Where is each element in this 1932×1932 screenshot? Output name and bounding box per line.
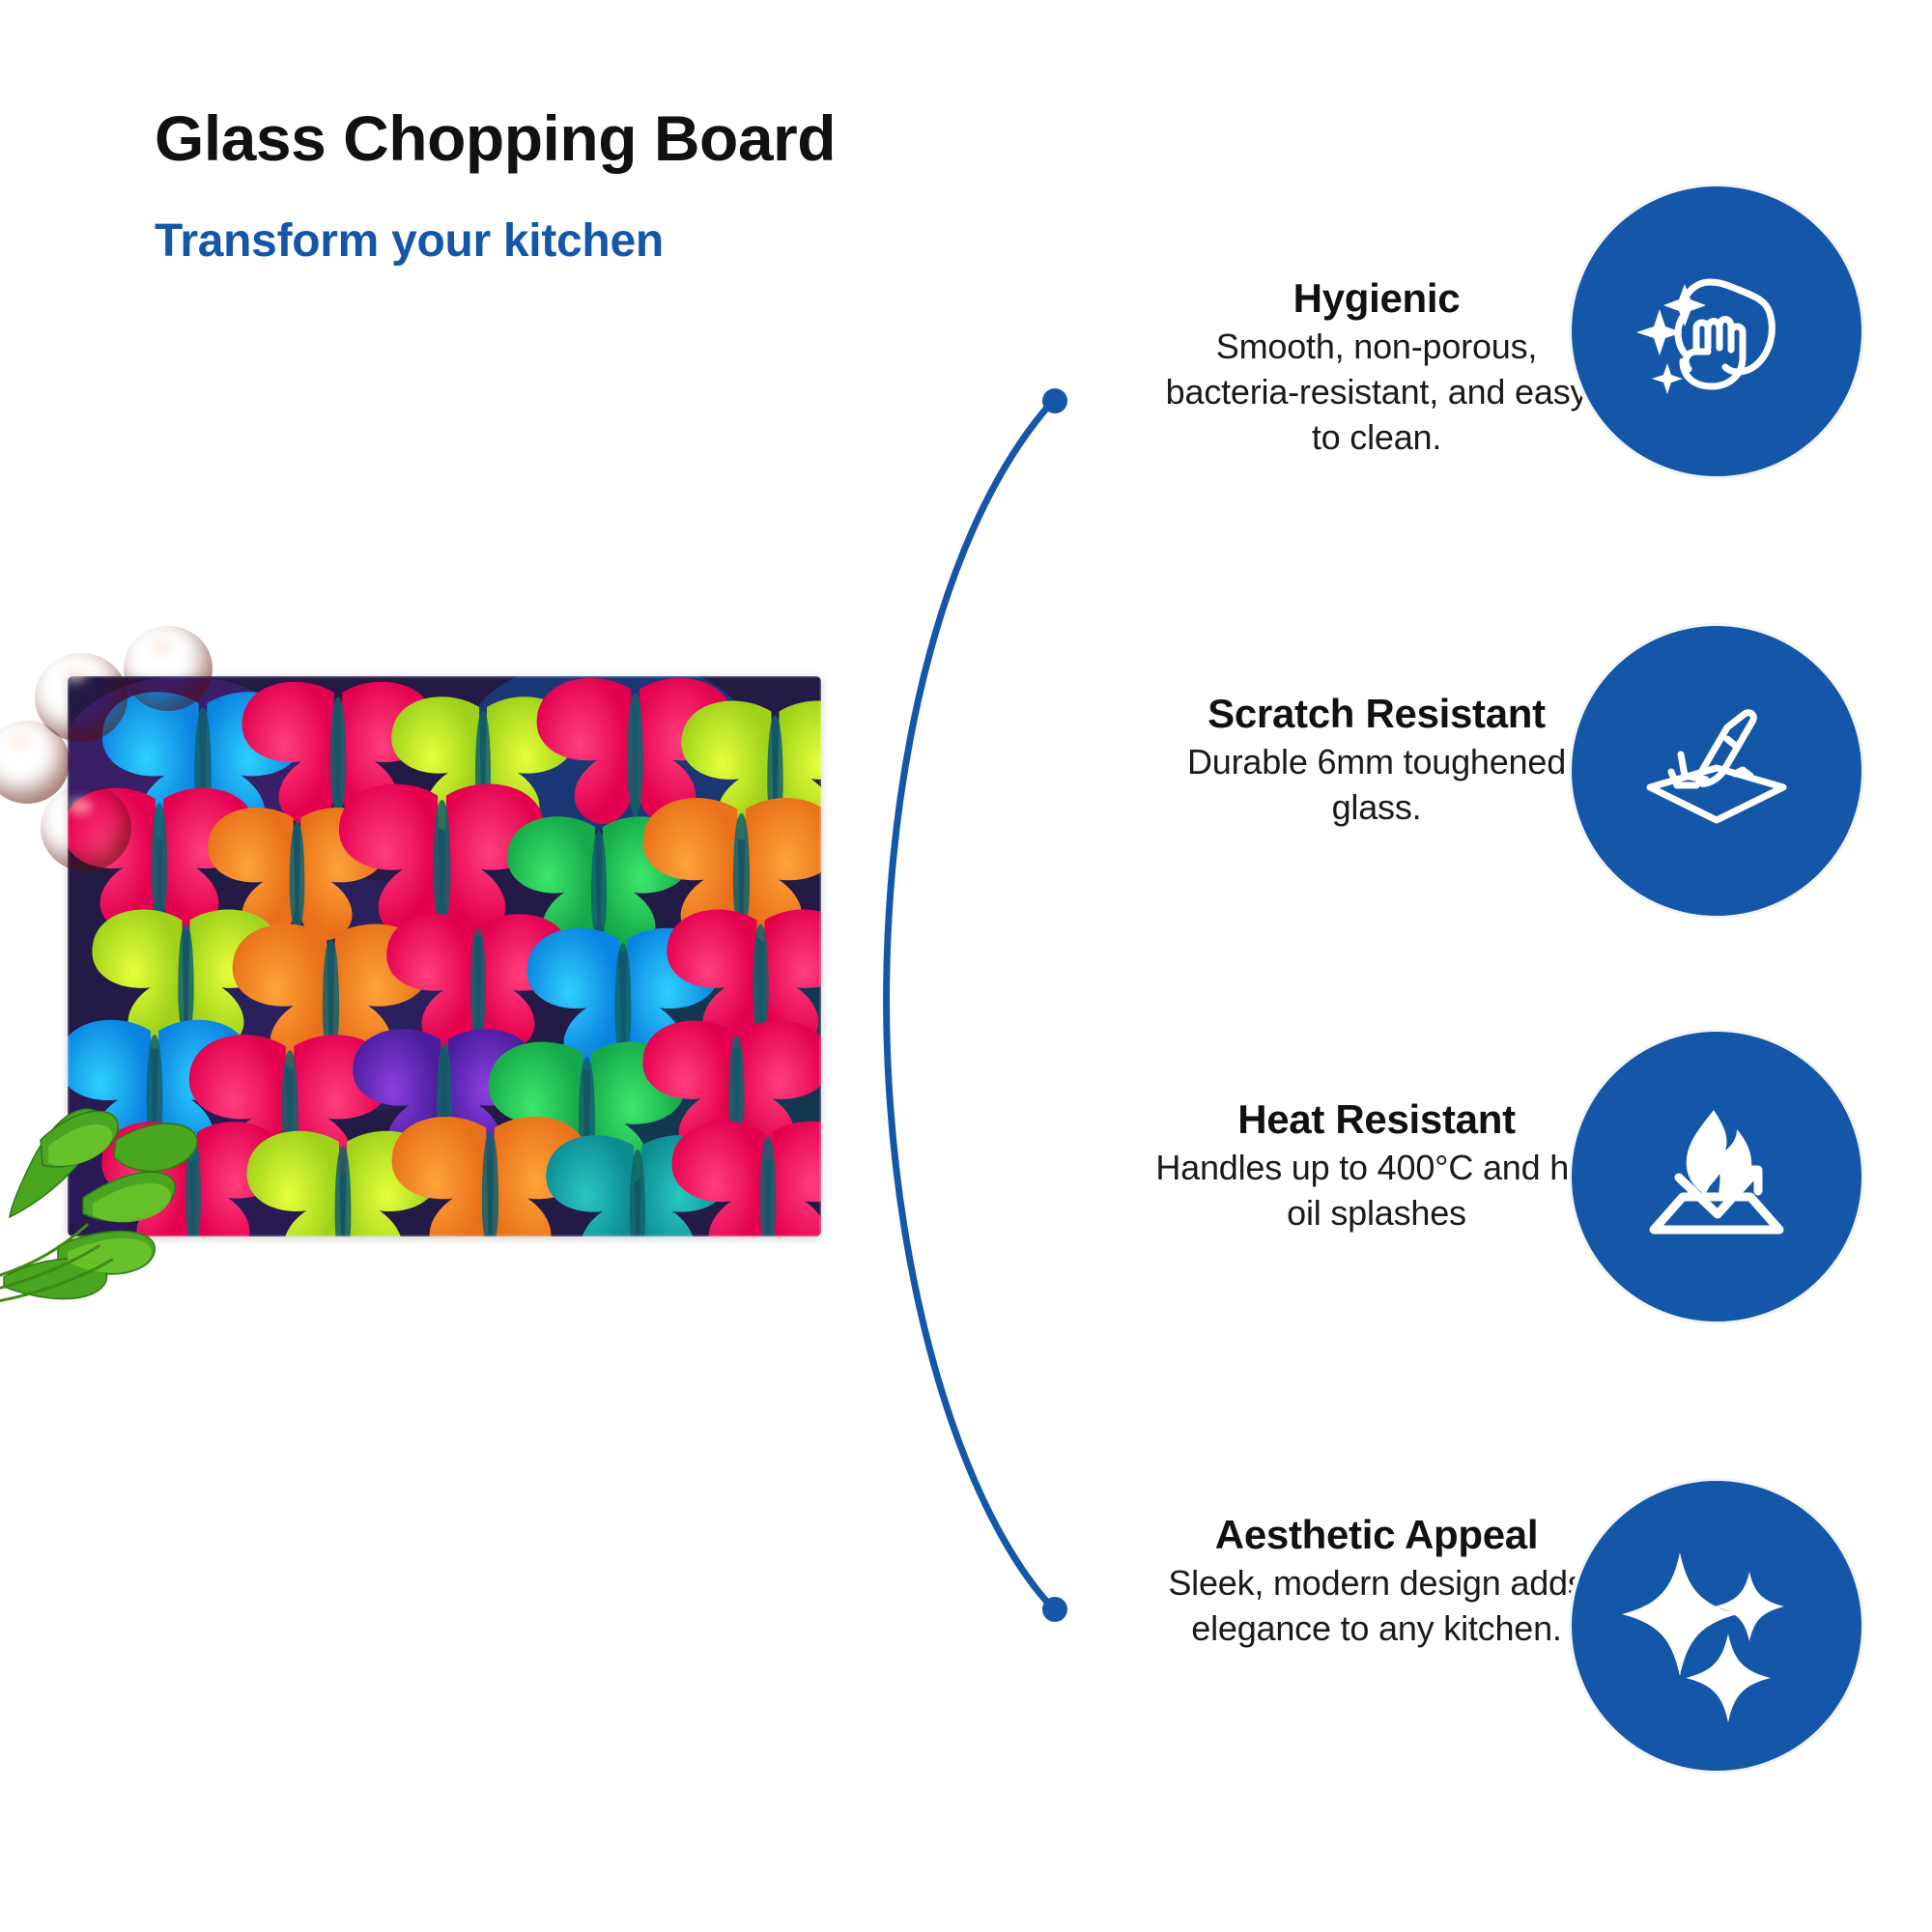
- feature-description: Smooth, non-porous, bacteria-resistant, …: [1150, 325, 1604, 460]
- feature-text-scratch-resistant: Scratch Resistant Durable 6mm toughened …: [1150, 691, 1604, 831]
- sparkles-icon: [1620, 1529, 1813, 1722]
- knife-on-surface-icon: [1625, 679, 1808, 863]
- feature-heat-resistant: Heat Resistant Handles up to 400°C and h…: [0, 1096, 1932, 1406]
- feature-title: Scratch Resistant: [1150, 691, 1604, 736]
- feature-scratch-resistant: Scratch Resistant Durable 6mm toughened …: [0, 691, 1932, 1000]
- feature-description: Sleek, modern design adds elegance to an…: [1150, 1561, 1604, 1652]
- feature-title: Heat Resistant: [1150, 1096, 1604, 1142]
- page-title: Glass Chopping Board: [155, 101, 836, 175]
- feature-icon-badge-hygienic[interactable]: [1569, 184, 1864, 479]
- feature-text-hygienic: Hygienic Smooth, non-porous, bacteria-re…: [1150, 275, 1604, 460]
- feature-text-aesthetic-appeal: Aesthetic Appeal Sleek, modern design ad…: [1150, 1512, 1604, 1652]
- feature-description: Handles up to 400°C and hot oil splashes: [1150, 1146, 1604, 1236]
- feature-icon-badge-heat-resistant[interactable]: [1569, 1029, 1864, 1324]
- feature-title: Hygienic: [1150, 275, 1604, 321]
- infographic-canvas: Glass Chopping Board Transform your kitc…: [0, 0, 1932, 1932]
- feature-hygienic: Hygienic Smooth, non-porous, bacteria-re…: [0, 256, 1932, 565]
- feature-title: Aesthetic Appeal: [1150, 1512, 1604, 1557]
- feature-icon-badge-aesthetic-appeal[interactable]: [1569, 1478, 1864, 1774]
- feature-description: Durable 6mm toughened glass.: [1150, 740, 1604, 831]
- flame-deflect-icon: [1625, 1085, 1808, 1268]
- feature-icon-badge-scratch-resistant[interactable]: [1569, 623, 1864, 919]
- feature-aesthetic-appeal: Aesthetic Appeal Sleek, modern design ad…: [0, 1512, 1932, 1821]
- feature-text-heat-resistant: Heat Resistant Handles up to 400°C and h…: [1150, 1096, 1604, 1236]
- wiping-hand-sparkle-icon: [1625, 240, 1808, 423]
